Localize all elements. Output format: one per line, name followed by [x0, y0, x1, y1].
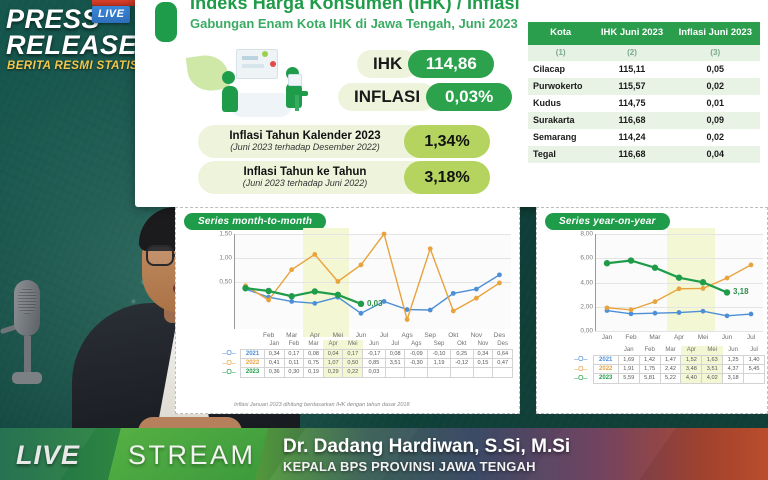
chart-footnote: Inflasi Januari 2023 dihitung berdasarka… — [234, 402, 410, 408]
chart-table-month: Ags — [405, 340, 428, 349]
chart-table-month: Feb — [639, 346, 660, 355]
chart-table-month: Jul — [744, 346, 765, 355]
table-colnum: (3) — [671, 45, 760, 61]
x-axis-tick: Mei — [333, 332, 343, 339]
cell-kota: Purwokerto — [528, 78, 593, 95]
lower-third-banner: LIVE STREAM Dr. Dadang Hardiwan, S.Si, M… — [0, 428, 768, 480]
dot-icon — [270, 61, 276, 67]
chart-table-cell: 0,17 — [284, 349, 304, 358]
chart-table-cell: 3,51 — [702, 364, 723, 373]
chart-table-month: Okt — [450, 340, 473, 349]
gridline — [595, 258, 763, 259]
y-axis-tick: 4,00 — [569, 279, 593, 286]
x-axis-tick: Jun — [356, 332, 366, 339]
chart-table-cell — [428, 368, 451, 377]
y-axis-tick: 0,50 — [208, 278, 232, 285]
x-axis-tick: Jan — [602, 334, 612, 341]
chart-table-cell: -0,30 — [405, 358, 428, 367]
chart-table-cell: 1,69 — [618, 355, 639, 364]
chart-table-row: –O–20221,911,752,423,483,514,375,45 — [569, 364, 765, 373]
chart-table-cell: 1,40 — [744, 355, 765, 364]
cell-inflasi: 0,02 — [671, 129, 760, 146]
chart-table-cell: -0,09 — [405, 349, 428, 358]
chart-table-month: Mar — [660, 346, 681, 355]
chart-table-cell: 0,08 — [385, 349, 405, 358]
table-header-row: Kota IHK Juni 2023 Inflasi Juni 2023 — [528, 22, 760, 45]
chart-table-header-row: JanFebMarAprMeiJunJulAgsSepOktNovDes — [218, 340, 513, 349]
table-header-inflasi: Inflasi Juni 2023 — [671, 22, 760, 45]
table-colnum-row: (1)(2)(3) — [528, 45, 760, 61]
stream-label: STREAM — [128, 440, 256, 471]
chart-table-cell: -0,10 — [428, 349, 451, 358]
chart-right-title: Series year-on-year — [545, 213, 670, 230]
kpi-inflasi-value: 0,03% — [426, 83, 512, 111]
kpi-kalender-title: Inflasi Tahun Kalender 2023 — [206, 130, 404, 142]
x-axis-tick: Mei — [698, 334, 708, 341]
gridline — [595, 331, 763, 332]
infographic-slide: Indeks Harga Konsumen (IHK) / Inflasi Ga… — [135, 0, 768, 207]
cell-ihk: 116,68 — [593, 146, 670, 163]
chart-table-cell: 0,34 — [264, 349, 284, 358]
chart-table-cell: 0,29 — [323, 368, 343, 377]
legend-marker-2023: –O– — [569, 374, 593, 383]
x-axis-tick: Apr — [310, 332, 320, 339]
chart-table-cell: 1,75 — [639, 364, 660, 373]
x-axis-tick: Jul — [747, 334, 755, 341]
table-colnum: (1) — [528, 45, 593, 61]
chart-table-cell — [473, 368, 493, 377]
chart-table-cell: 0,17 — [343, 349, 363, 358]
x-axis-tick: Sep — [424, 332, 436, 339]
speaker-name: Dr. Dadang Hardiwan, S.Si, M.Si — [283, 436, 570, 458]
chart-table-cell: 0,30 — [284, 368, 304, 377]
chart-table-cell: 0,25 — [450, 349, 473, 358]
chart-table-month: Des — [493, 340, 513, 349]
kpi-yoy-value: 3,18% — [404, 161, 490, 194]
legend-year-2023: 2023 — [241, 368, 265, 377]
cell-inflasi: 0,04 — [671, 146, 760, 163]
cell-inflasi: 0,02 — [671, 78, 760, 95]
chart-table-cell — [405, 368, 428, 377]
microphone-base — [12, 372, 42, 384]
x-axis-tick: Feb — [625, 334, 636, 341]
kpi-yoy-title: Inflasi Tahun ke Tahun — [206, 166, 404, 178]
chart-table-row: –O–20210,340,170,080,040,17-0,170,08-0,0… — [218, 349, 513, 358]
table-row: Surakarta116,680,09 — [528, 112, 760, 129]
chart-table-row: –O–20235,595,815,224,404,023,18 — [569, 374, 765, 383]
y-axis-tick: 0,00 — [569, 328, 593, 335]
y-axis-tick: 2,00 — [569, 303, 593, 310]
microphone-mesh — [18, 288, 36, 314]
person-standing-icon — [222, 71, 238, 112]
legend-marker-2022: –O– — [218, 358, 241, 367]
chart-table-month: Feb — [284, 340, 304, 349]
chart-table-cell: 5,45 — [744, 364, 765, 373]
title-accent-bar — [155, 2, 177, 42]
cell-inflasi: 0,05 — [671, 61, 760, 78]
chart-table-cell — [450, 368, 473, 377]
cloud-shape — [230, 93, 292, 117]
x-axis-tick: Okt — [448, 332, 458, 339]
chart-table-month: Mei — [702, 346, 723, 355]
chart-table-cell: 0,41 — [264, 358, 284, 367]
chart-table-cell: 1,19 — [428, 358, 451, 367]
highlight-band — [303, 228, 349, 337]
desk-leg-shape — [295, 95, 299, 111]
x-axis-tick: Ags — [402, 332, 413, 339]
y-axis-tick: 8,00 — [569, 231, 593, 238]
table-row: Kudus114,750,01 — [528, 95, 760, 112]
chart-table-month: Mar — [304, 340, 324, 349]
chart-table-month: Mei — [343, 340, 363, 349]
chart-table-cell: 0,47 — [493, 358, 513, 367]
chart-table-cell: 5,59 — [618, 374, 639, 383]
legend-year-2023: 2023 — [593, 374, 618, 383]
illustration — [190, 47, 340, 129]
cell-ihk: 114,24 — [593, 129, 670, 146]
legend-year-2021: 2021 — [593, 355, 618, 364]
kpi-kalender: Inflasi Tahun Kalender 2023 (Juni 2023 t… — [198, 125, 490, 158]
chart-table-month: Sep — [428, 340, 451, 349]
page-title: Indeks Harga Konsumen (IHK) / Inflasi — [190, 0, 520, 14]
chart-table-cell — [493, 368, 513, 377]
y-axis-tick: 1,50 — [208, 231, 232, 238]
chart-table-row: –O–20211,691,421,471,521,631,251,40 — [569, 355, 765, 364]
highlight-band — [667, 228, 715, 331]
chart-table-cell: 1,07 — [323, 358, 343, 367]
gridline — [595, 307, 763, 308]
cell-kota: Cilacap — [528, 61, 593, 78]
cell-inflasi: 0,01 — [671, 95, 760, 112]
table-row: Cilacap115,110,05 — [528, 61, 760, 78]
kpi-tahun-ke-tahun: Inflasi Tahun ke Tahun (Juni 2023 terhad… — [198, 161, 490, 194]
logo-line-2: RELEASE — [6, 32, 137, 59]
chart-table-month: Jun — [363, 340, 386, 349]
chart-table-cell: 0,75 — [304, 358, 324, 367]
chart-table-cell: 4,40 — [681, 374, 702, 383]
data-label-annotation: 3,18 — [733, 287, 749, 296]
chart-table-cell: 3,48 — [681, 364, 702, 373]
chart-table-month: Jul — [385, 340, 405, 349]
live-badge: LIVE — [92, 6, 130, 23]
cell-ihk: 116,68 — [593, 112, 670, 129]
chart-table-cell: 0,34 — [473, 349, 493, 358]
legend-marker-2023: –O– — [218, 368, 241, 377]
cell-ihk: 115,57 — [593, 78, 670, 95]
kpi-inflasi: INFLASI 0,03% — [338, 83, 512, 111]
chart-table-cell: 5,22 — [660, 374, 681, 383]
chart-month-to-month: Series month-to-month Inflasi Januari 20… — [175, 207, 520, 414]
chart-table-cell: 5,81 — [639, 374, 660, 383]
chart-table-cell: 0,50 — [343, 358, 363, 367]
chart-table-month: Jan — [264, 340, 284, 349]
gridline — [234, 282, 511, 283]
monitor-icon — [288, 74, 302, 86]
chart-table-row: –O–20220,410,110,751,070,500,853,51-0,30… — [218, 358, 513, 367]
broadcast-stage: PRESS RELEASE BERITA RESMI STATISTIK LIV… — [0, 0, 768, 480]
legend-year-2022: 2022 — [593, 364, 618, 373]
cell-kota: Tegal — [528, 146, 593, 163]
chart-data-table: JanFebMarAprMeiJunJul–O–20211,691,421,47… — [569, 346, 765, 384]
chart-table-cell: 0,08 — [304, 349, 324, 358]
chart-table-cell: -0,17 — [363, 349, 386, 358]
x-axis-tick: Mar — [286, 332, 297, 339]
x-axis-tick: Apr — [674, 334, 684, 341]
table-row: Tegal116,680,04 — [528, 146, 760, 163]
y-axis-tick: 6,00 — [569, 255, 593, 262]
chart-year-on-year: Series year-on-year 0,002,004,006,008,00… — [536, 207, 768, 414]
x-axis-tick: Des — [494, 332, 506, 339]
chart-table-cell: 0,11 — [284, 358, 304, 367]
chart-table-cell: 0,03 — [363, 368, 386, 377]
x-axis-tick: Jun — [722, 334, 732, 341]
chart-table-cell: -0,12 — [450, 358, 473, 367]
legend-year-2022: 2022 — [241, 358, 265, 367]
chart-table-cell: 0,64 — [493, 349, 513, 358]
gridline — [595, 283, 763, 284]
chart-table-cell: 1,91 — [618, 364, 639, 373]
cell-inflasi: 0,09 — [671, 112, 760, 129]
kpi-yoy-note: (Juni 2023 terhadap Juni 2022) — [206, 178, 404, 188]
chart-table-cell: 4,37 — [723, 364, 744, 373]
chart-table-cell: 3,18 — [723, 374, 744, 383]
table-row: Purwokerto115,570,02 — [528, 78, 760, 95]
kpi-kalender-note: (Juni 2023 terhadap Desember 2022) — [206, 142, 404, 152]
chart-table-cell: 0,36 — [264, 368, 284, 377]
cell-kota: Surakarta — [528, 112, 593, 129]
chart-table-cell: 1,63 — [702, 355, 723, 364]
legend-year-2021: 2021 — [241, 349, 265, 358]
speaker-role: KEPALA BPS PROVINSI JAWA TENGAH — [283, 459, 536, 474]
kpi-inflasi-label: INFLASI — [338, 83, 436, 111]
logo-line-1: PRESS — [6, 6, 100, 33]
chart-table-cell: 0,04 — [323, 349, 343, 358]
table-header-ihk: IHK Juni 2023 — [593, 22, 670, 45]
kpi-ihk-value: 114,86 — [408, 50, 494, 78]
gridline — [234, 258, 511, 259]
chart-table-cell — [744, 374, 765, 383]
x-axis-tick: Jul — [380, 332, 388, 339]
cell-kota: Kudus — [528, 95, 593, 112]
live-label: LIVE — [16, 440, 80, 471]
chart-table-month: Jan — [618, 346, 639, 355]
chart-table-cell: 1,42 — [639, 355, 660, 364]
cell-kota: Semarang — [528, 129, 593, 146]
city-table: Kota IHK Juni 2023 Inflasi Juni 2023 (1)… — [528, 22, 760, 163]
chart-table-cell: 0,22 — [343, 368, 363, 377]
chart-table-month: Apr — [681, 346, 702, 355]
y-axis-line — [595, 234, 596, 331]
chart-table-month: Jun — [723, 346, 744, 355]
chart-table-cell: 1,52 — [681, 355, 702, 364]
chart-table-cell: 1,25 — [723, 355, 744, 364]
chart-table-cell: 0,15 — [473, 358, 493, 367]
kpi-ihk: IHK 114,86 — [357, 50, 494, 78]
chart-table-month: Apr — [323, 340, 343, 349]
legend-marker-2021: –O– — [569, 355, 593, 364]
data-label-annotation: 0,03 — [367, 299, 383, 308]
chart-table-cell: 2,42 — [660, 364, 681, 373]
chart-table-header-row: JanFebMarAprMeiJunJul — [569, 346, 765, 355]
presenter-glasses-left — [146, 245, 174, 266]
x-axis-tick: Feb — [263, 332, 274, 339]
x-axis-tick: Mar — [649, 334, 660, 341]
chart-table-cell: 4,02 — [702, 374, 723, 383]
chart-table-month: Nov — [473, 340, 493, 349]
page-subtitle: Gabungan Enam Kota IHK di Jawa Tengah, J… — [190, 16, 518, 31]
microphone-stem — [24, 336, 31, 376]
cell-ihk: 115,11 — [593, 61, 670, 78]
chart-table-row: –O–20230,360,300,190,290,220,03 — [218, 368, 513, 377]
kpi-kalender-value: 1,34% — [404, 125, 490, 158]
y-axis-tick: 1,00 — [208, 254, 232, 261]
table-header-kota: Kota — [528, 22, 593, 45]
gridline — [595, 234, 763, 235]
legend-marker-2021: –O– — [218, 349, 241, 358]
chart-table-cell: 1,47 — [660, 355, 681, 364]
table-colnum: (2) — [593, 45, 670, 61]
legend-marker-2022: –O– — [569, 364, 593, 373]
chart-table-cell — [385, 368, 405, 377]
table-row: Semarang114,240,02 — [528, 129, 760, 146]
y-axis-line — [234, 234, 235, 329]
dot-icon — [262, 51, 268, 57]
chart-table-cell: 3,51 — [385, 358, 405, 367]
cell-ihk: 114,75 — [593, 95, 670, 112]
chart-table-cell: 0,19 — [304, 368, 324, 377]
gridline — [234, 234, 511, 235]
chart-data-table: JanFebMarAprMeiJunJulAgsSepOktNovDes–O–2… — [218, 340, 513, 378]
x-axis-tick: Nov — [471, 332, 483, 339]
chart-table-cell: 0,85 — [363, 358, 386, 367]
